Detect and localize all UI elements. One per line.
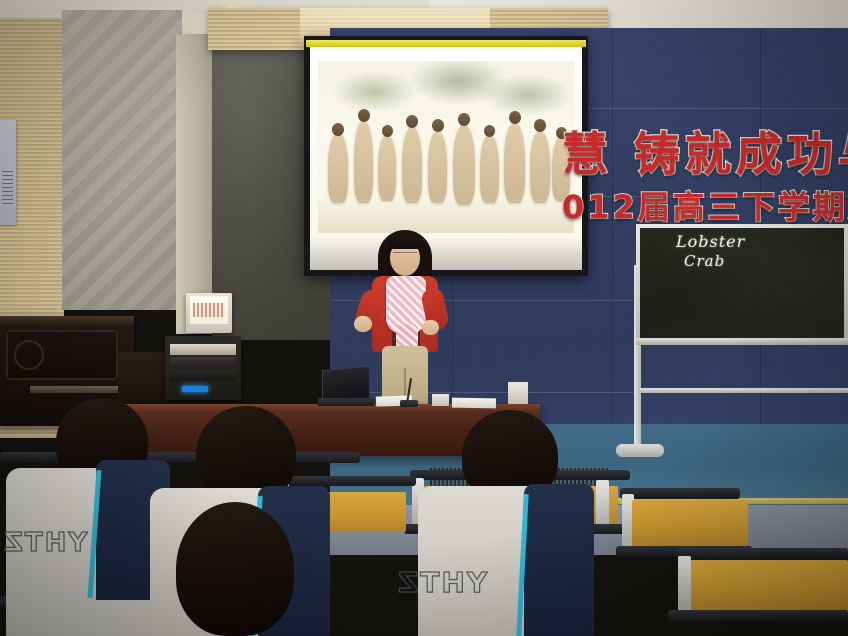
seat-rail: [276, 476, 416, 486]
seat-rail: [0, 452, 360, 463]
slide-figure: [378, 135, 396, 201]
banner-line-2: 012届高三下学期总动员: [562, 182, 848, 228]
blackboard-stand-rail: [640, 388, 848, 393]
wall-poster: [0, 120, 16, 225]
presenter-right-hand: [422, 320, 439, 335]
slide-figure: [480, 135, 499, 203]
slide-figure-head: [534, 119, 546, 132]
slide-figure: [428, 131, 447, 203]
blackboard-text-line-2: Crab: [684, 252, 725, 270]
av-led-display: [182, 386, 208, 392]
blackboard-chalk-tray: [636, 338, 848, 345]
laptop-base: [318, 398, 374, 406]
blackboard-text-line-1: Lobster: [676, 232, 745, 251]
blackboard-stand-foot: [616, 444, 664, 457]
projection-screen-top-bar: [306, 40, 586, 47]
slide-figure: [453, 125, 475, 205]
seat-rail: [668, 610, 848, 622]
glasses-icon: [393, 252, 417, 259]
slide-figure-head: [509, 111, 521, 124]
slide-figure-head: [458, 113, 470, 126]
seat-bracket: [678, 556, 691, 614]
slide-figure: [402, 127, 422, 203]
desk-device: [432, 394, 449, 406]
classroom-photo-scene: 慧 铸就成功与 012届高三下学期总动员 Lobster Crab: [0, 0, 848, 636]
av-deck-middle: [170, 357, 236, 367]
presenter-left-hand: [354, 316, 372, 332]
desk-item: [508, 382, 528, 404]
student-head: [176, 502, 294, 636]
papers-on-desk: [452, 398, 496, 409]
presenter-fringe: [388, 234, 422, 249]
av-deck-upper: [170, 344, 236, 355]
slide-figure: [504, 123, 525, 203]
preview-monitor-screen: [190, 296, 228, 324]
banner: 慧 铸就成功与 012届高三下学期总动员: [560, 104, 848, 234]
wall-column: [176, 34, 216, 334]
slide-figure-head: [484, 125, 495, 137]
banner-line-1: 慧 铸就成功与: [562, 118, 848, 184]
seat-back: [632, 500, 748, 548]
slide-figure: [328, 133, 348, 203]
slide-figure: [530, 131, 550, 203]
microphone-base: [400, 400, 418, 407]
student-uniform-logo: YHTZ: [2, 528, 87, 558]
slide-figure: [354, 121, 373, 203]
slide-figure-head: [432, 119, 444, 132]
piano-top: [0, 316, 134, 325]
piano-rosette: [14, 340, 44, 370]
student-uniform-shoulder: [524, 484, 594, 636]
seat-back: [690, 560, 848, 614]
seat-rail: [676, 548, 848, 560]
seat-rail: [620, 488, 740, 499]
slide-figure-head: [358, 109, 370, 122]
slide-figure-head: [332, 123, 344, 136]
student-uniform-logo: YHTZ: [396, 566, 487, 599]
slide-figure-head: [382, 125, 393, 137]
piano-keyboard-lid: [30, 386, 126, 393]
slide-figure-head: [406, 115, 418, 128]
wall-gray-panel-left: [62, 10, 182, 310]
av-deck-lower: [170, 369, 236, 381]
